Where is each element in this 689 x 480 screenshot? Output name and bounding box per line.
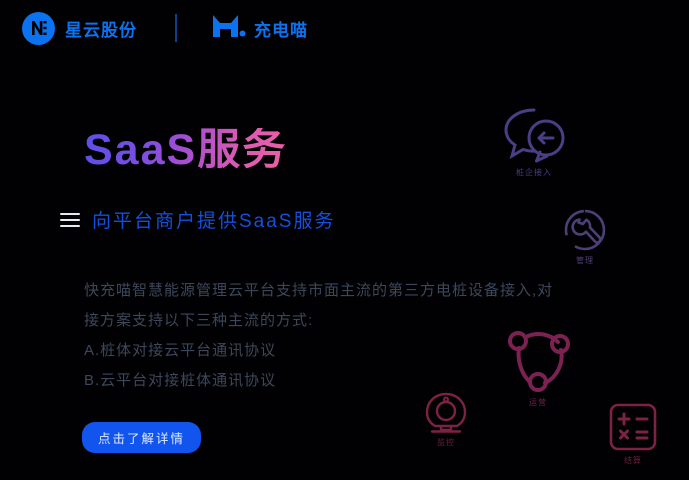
learn-more-button[interactable]: 点击了解详情 [82,422,201,453]
feature-label: 运营 [529,397,547,408]
brand-primary[interactable]: 星云股份 [22,12,137,45]
speech-bubbles-arrow-icon [500,104,568,164]
feature-tool: 管理 [562,208,608,266]
feature-monitor: 监控 [424,392,468,448]
site-header: 星云股份 充电喵 [0,0,689,56]
charging-cat-logo-icon [211,13,247,44]
nebula-circle-logo-icon [22,12,55,45]
wrench-circle-icon [562,208,608,252]
feature-label: 监控 [437,437,455,448]
feature-label: 管理 [576,255,594,266]
camera-monitor-icon [424,392,468,434]
feature-calculator: 结算 [608,402,658,466]
body-line-1: 快充喵智慧能源管理云平台支持市面主流的第三方电桩设备接入,对 [84,276,584,306]
hamburger-icon[interactable] [60,213,80,227]
brand-secondary[interactable]: 充电喵 [211,13,308,44]
protocol-list: A.桩体对接云平台通讯协议 B.云平台对接桩体通讯协议 [84,336,276,396]
header-divider [175,14,177,42]
list-item: A.桩体对接云平台通讯协议 [84,336,276,366]
calculator-icon [608,402,658,452]
brand-primary-name: 星云股份 [65,16,137,41]
feature-chat: 桩企接入 [500,104,568,178]
feature-label: 结算 [624,455,642,466]
page-subtitle: 向平台商户提供SaaS服务 [92,206,335,233]
feature-network: 运营 [504,328,572,408]
body-copy: 快充喵智慧能源管理云平台支持市面主流的第三方电桩设备接入,对 接方案支持以下三种… [84,276,584,336]
page-title: SaaS服务 [84,128,287,173]
page-root: 星云股份 充电喵 SaaS服务 向平台商户提供SaaS服务 快充喵智慧能源管理云… [0,0,689,480]
subtitle-row: 向平台商户提供SaaS服务 [60,206,335,233]
list-item: B.云平台对接桩体通讯协议 [84,366,276,396]
brand-secondary-name: 充电喵 [254,16,308,41]
feature-label: 桩企接入 [516,167,552,178]
network-nodes-icon [504,328,572,394]
